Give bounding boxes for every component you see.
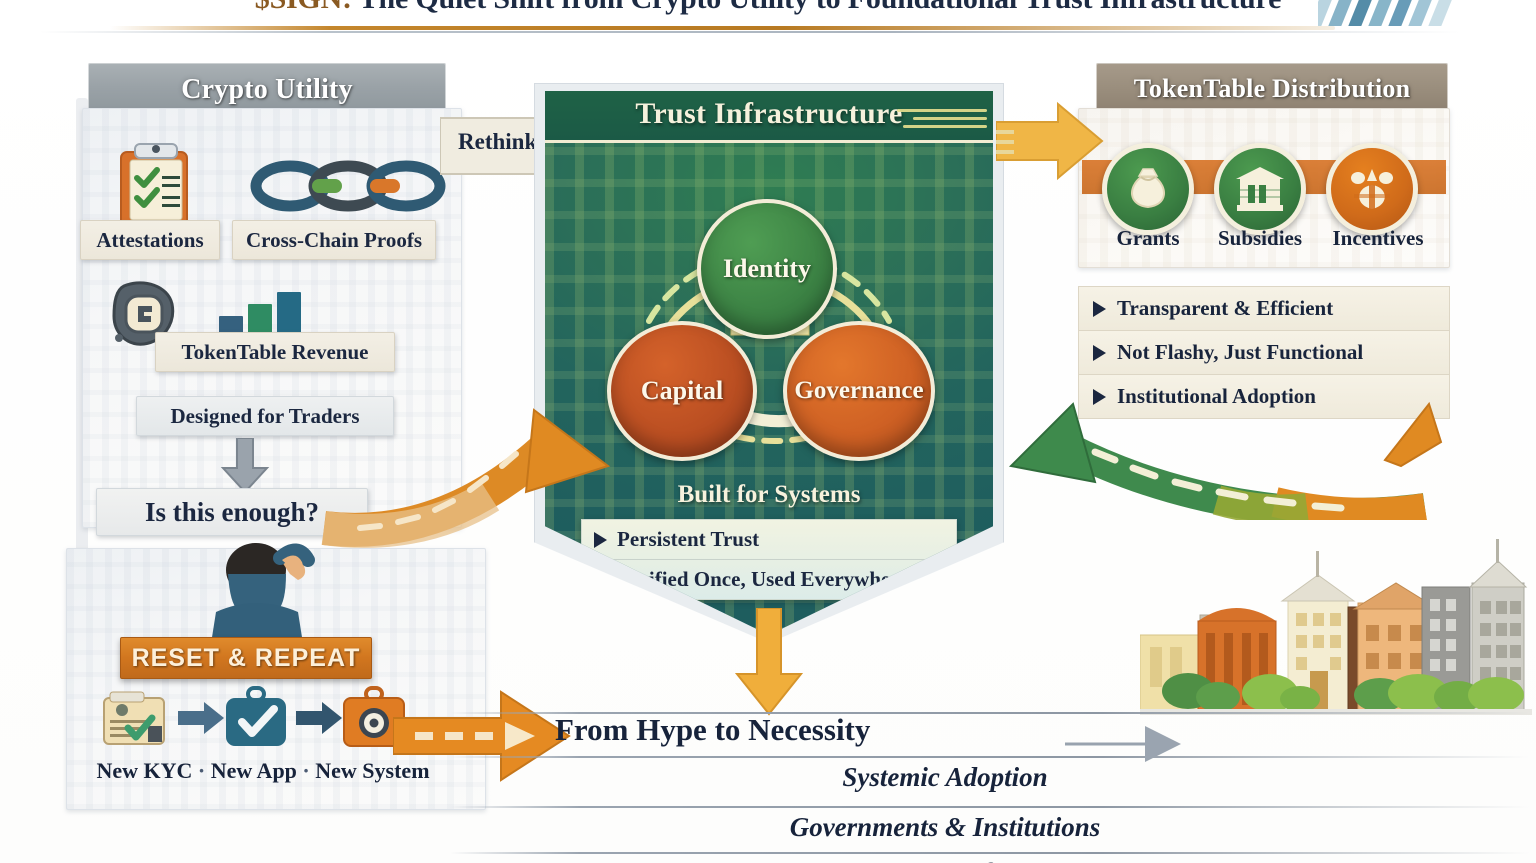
amber-right-arrow-icon — [996, 96, 1106, 186]
triangle-right-icon — [594, 572, 607, 588]
title-accent-rule — [110, 26, 1335, 30]
page-title: $SIGN: The Quiet Shift from Crypto Utili… — [0, 0, 1536, 16]
left-item-tokentable-revenue[interactable]: TokenTable Revenue — [155, 332, 395, 372]
chain-links-icon — [248, 158, 448, 214]
bank-building-icon — [1233, 163, 1287, 215]
page-title-area: $SIGN: The Quiet Shift from Crypto Utili… — [0, 0, 1536, 28]
step-arrow-1-icon — [178, 700, 226, 736]
bottom-line-systemic-adoption: Systemic Adoption — [450, 762, 1530, 793]
left-item-attestations[interactable]: Attestations — [80, 220, 220, 260]
is-this-enough-text: Is this enough? — [145, 497, 319, 528]
left-item-cross-chain-proofs-label: Cross-Chain Proofs — [246, 228, 422, 253]
distribution-label-grants: Grants — [1096, 226, 1200, 251]
left-item-attestations-label: Attestations — [96, 228, 203, 253]
list-item[interactable]: Not Flashy, Just Functional — [1078, 330, 1450, 374]
trust-node-governance-label: Governance — [794, 377, 923, 405]
loop-step-new-kyc: New KYC — [96, 758, 192, 783]
briefcase-check-icon — [222, 686, 290, 750]
orange-curved-arrow-icon — [320, 400, 670, 550]
money-bag-icon — [1122, 163, 1174, 215]
distribution-subsidies-text: Subsidies — [1218, 226, 1302, 250]
distribution-grants-text: Grants — [1117, 226, 1180, 250]
bottom-band-title: From Hype to Necessity — [555, 712, 870, 748]
decorative-stripes-icon — [1318, 0, 1478, 26]
clipboard-check-icon — [115, 138, 197, 230]
distribution-item-incentives[interactable] — [1326, 143, 1418, 235]
reset-and-repeat-banner: RESET & REPEAT — [120, 637, 372, 679]
confused-person-icon — [196, 540, 326, 650]
right-bullet-0-label: Transparent & Efficient — [1117, 296, 1333, 321]
left-item-cross-chain-proofs[interactable]: Cross-Chain Proofs — [232, 220, 436, 260]
distribution-label-subsidies: Subsidies — [1200, 226, 1320, 251]
green-arrow-up-right-tip-icon — [1355, 398, 1445, 468]
trust-node-identity-label: Identity — [723, 254, 811, 284]
ticker-symbol: $SIGN: — [255, 0, 352, 15]
trust-node-governance[interactable]: Governance — [783, 321, 935, 461]
loop-sep-2: · — [302, 758, 309, 783]
rethink-label: Rethink — [458, 129, 537, 155]
right-arrow-gray-icon — [1065, 722, 1185, 766]
center-panel: Trust Infrastructure Identity Capital Go… — [534, 83, 1004, 643]
left-item-tokentable-revenue-label: TokenTable Revenue — [182, 340, 369, 365]
id-card-icon — [100, 690, 168, 750]
left-column-heading-text: Crypto Utility — [181, 74, 353, 106]
distribution-label-incentives: Incentives — [1318, 226, 1438, 251]
title-secondary-rule — [40, 31, 1460, 33]
city-skyline-icon — [1140, 525, 1532, 725]
reward-burst-icon — [1346, 163, 1398, 215]
center-panel-inner: Trust Infrastructure Identity Capital Go… — [545, 91, 993, 635]
loop-step-new-app: New App — [211, 758, 297, 783]
infographic-canvas: $SIGN: The Quiet Shift from Crypto Utili… — [0, 0, 1536, 863]
triangle-right-icon — [1093, 301, 1106, 317]
step-arrow-2-icon — [296, 700, 344, 736]
page-title-rest: The Quiet Shift from Crypto Utility to F… — [352, 0, 1281, 15]
loop-sep-1: · — [198, 758, 205, 783]
distribution-incentives-text: Incentives — [1333, 226, 1424, 250]
trust-node-identity[interactable]: Identity — [697, 199, 837, 339]
triangle-right-icon — [1093, 345, 1106, 361]
reset-and-repeat-text: RESET & REPEAT — [132, 644, 361, 673]
distribution-item-grants[interactable] — [1102, 143, 1194, 235]
bottom-line-governments-institutions: Governments & Institutions — [450, 812, 1530, 843]
bottom-line-future-of-trust: The Future of Trust — [450, 858, 1530, 863]
list-item[interactable]: Transparent & Efficient — [1078, 286, 1450, 330]
distribution-item-subsidies[interactable] — [1214, 143, 1306, 235]
down-arrow-gray-icon — [215, 438, 275, 494]
rethink-text: Rethink — [458, 129, 537, 154]
right-column-heading-text: TokenTable Distribution — [1134, 74, 1411, 104]
bottom-band: From Hype to Necessity Systemic Adoption… — [450, 700, 1530, 863]
right-bullet-1-label: Not Flashy, Just Functional — [1117, 340, 1363, 365]
